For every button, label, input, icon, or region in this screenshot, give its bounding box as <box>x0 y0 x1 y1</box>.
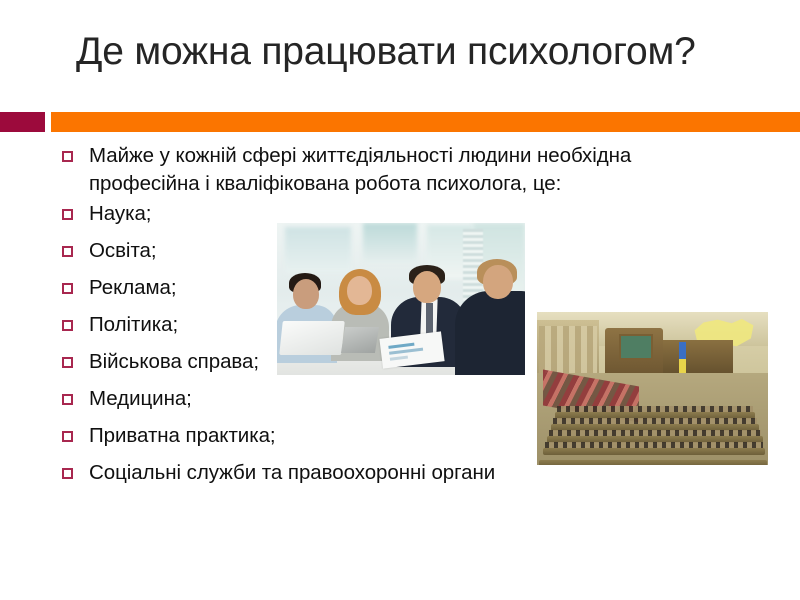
person-head <box>413 271 441 303</box>
seated-deputies <box>553 418 757 424</box>
divider-accent-block <box>0 112 45 132</box>
square-outline-bullet-icon <box>62 468 73 479</box>
chart-line <box>389 348 423 355</box>
seated-deputies <box>549 430 761 436</box>
square-outline-bullet-icon <box>62 320 73 331</box>
square-outline-bullet-icon <box>62 151 73 162</box>
person-head <box>347 276 372 305</box>
square-outline-bullet-icon <box>62 431 73 442</box>
person-tie <box>426 303 433 335</box>
presentation-slide: Де можна працювати психологом? Майже у к… <box>0 0 800 600</box>
deputy-bench <box>539 460 767 465</box>
hall-columns <box>539 326 597 374</box>
tablet-icon <box>341 327 379 353</box>
person-head <box>293 279 319 309</box>
person-head <box>483 265 513 299</box>
window-pane <box>363 223 417 263</box>
square-outline-bullet-icon <box>62 283 73 294</box>
title-divider <box>0 112 800 132</box>
list-item: Майже у кожній сфері життєдіяльності люд… <box>52 142 752 198</box>
list-item-label: Майже у кожній сфері життєдіяльності люд… <box>89 142 669 198</box>
person-body <box>455 291 525 375</box>
chart-line <box>390 356 408 361</box>
page-title: Де можна працювати психологом? <box>76 28 776 76</box>
window-pane <box>285 227 351 273</box>
business-meeting-photo <box>277 223 525 375</box>
ukraine-flag-icon <box>679 342 686 376</box>
chart-line <box>388 343 414 349</box>
deputy-bench <box>543 448 765 455</box>
laptop-icon <box>279 321 345 355</box>
slide-footer-area <box>0 510 800 600</box>
divider-accent-bar <box>51 112 800 132</box>
square-outline-bullet-icon <box>62 357 73 368</box>
rostrum-panel <box>619 334 653 360</box>
square-outline-bullet-icon <box>62 209 73 220</box>
square-outline-bullet-icon <box>62 246 73 257</box>
parliament-chamber-photo <box>537 312 768 465</box>
square-outline-bullet-icon <box>62 394 73 405</box>
seated-deputies <box>557 406 753 412</box>
seated-deputies <box>545 442 763 448</box>
